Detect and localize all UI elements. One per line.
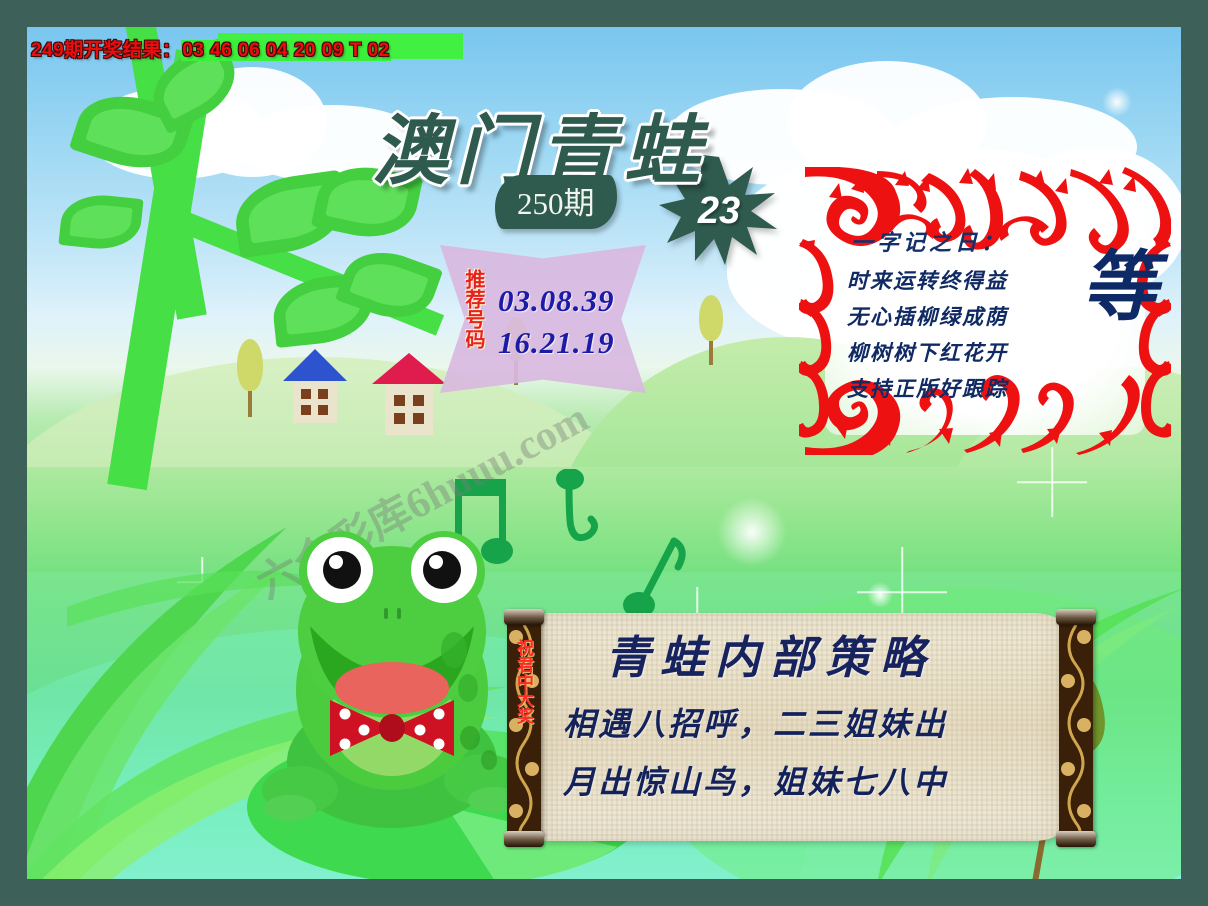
poem-line-2: 无心插柳绿成荫: [847, 301, 1008, 331]
scroll-cap: [504, 831, 544, 847]
house-window: [301, 405, 311, 415]
house-blue-roof-icon: [293, 379, 337, 423]
scroll-line-2: 月出惊山鸟，姐妹七八中: [563, 757, 948, 803]
poem-title: 一字记之日：: [851, 225, 1007, 257]
scroll-cap: [1056, 831, 1096, 847]
tree-icon: [237, 339, 263, 391]
scroll-cap: [1056, 609, 1096, 625]
rec-panel-label: 推荐号码: [460, 269, 486, 369]
result-numbers: 03 46 06 04 20 09 T 02: [181, 40, 391, 61]
draw-result-bar: 249期开奖结果：03 46 06 04 20 09 T 02: [27, 35, 1181, 62]
house-window: [318, 389, 328, 399]
poster-root: 249期开奖结果：03 46 06 04 20 09 T 02 澳门青蛙 250…: [0, 0, 1208, 906]
scroll-title: 青蛙内部策略: [605, 621, 935, 686]
poem-line-3: 柳树树下红花开: [847, 337, 1008, 367]
poster-canvas: 249期开奖结果：03 46 06 04 20 09 T 02 澳门青蛙 250…: [27, 27, 1181, 879]
scroll-blessing-text: 祝君中大奖: [513, 639, 535, 724]
scroll-line-1: 相遇八招呼，二三姐妹出: [563, 699, 948, 745]
house-window: [413, 413, 424, 424]
rec-numbers-line-1: 03.08.39: [498, 283, 615, 319]
scroll-rod-right: [1059, 621, 1093, 837]
house-window: [318, 405, 328, 415]
house-red-roof-icon: [385, 383, 433, 435]
strategy-scroll: 祝君中大奖 青蛙内部策略 相遇八招呼: [497, 599, 1105, 857]
house-window: [413, 395, 424, 406]
sparkle: [1102, 87, 1132, 117]
poem-line-1: 时来运转终得益: [847, 265, 1008, 295]
poem-keyword-char: 等: [1081, 249, 1157, 325]
house-window: [394, 395, 405, 406]
result-prefix: 249期开奖结果：: [31, 40, 181, 61]
tree-leaf: [58, 191, 143, 253]
music-note-icon: [555, 469, 609, 547]
sparkle: [717, 497, 787, 567]
recommended-numbers-panel: 推荐号码 03.08.39 16.21.19: [440, 245, 646, 393]
house-window: [394, 413, 405, 424]
poem-panel: 一字记之日： 时来运转终得益 无心插柳绿成荫 柳树树下红花开 支持正版好跟踪 等: [799, 167, 1171, 455]
house-window: [301, 389, 311, 399]
tree-icon: [699, 295, 723, 341]
house-roof-red: [372, 353, 446, 384]
rec-numbers-line-2: 16.21.19: [498, 325, 615, 361]
poem-line-4: 支持正版好跟踪: [847, 373, 1008, 403]
sparkle-cross: [1017, 447, 1087, 517]
issue-badge: 250期: [495, 175, 617, 229]
house-roof-blue: [283, 349, 347, 381]
scroll-cap: [504, 609, 544, 625]
